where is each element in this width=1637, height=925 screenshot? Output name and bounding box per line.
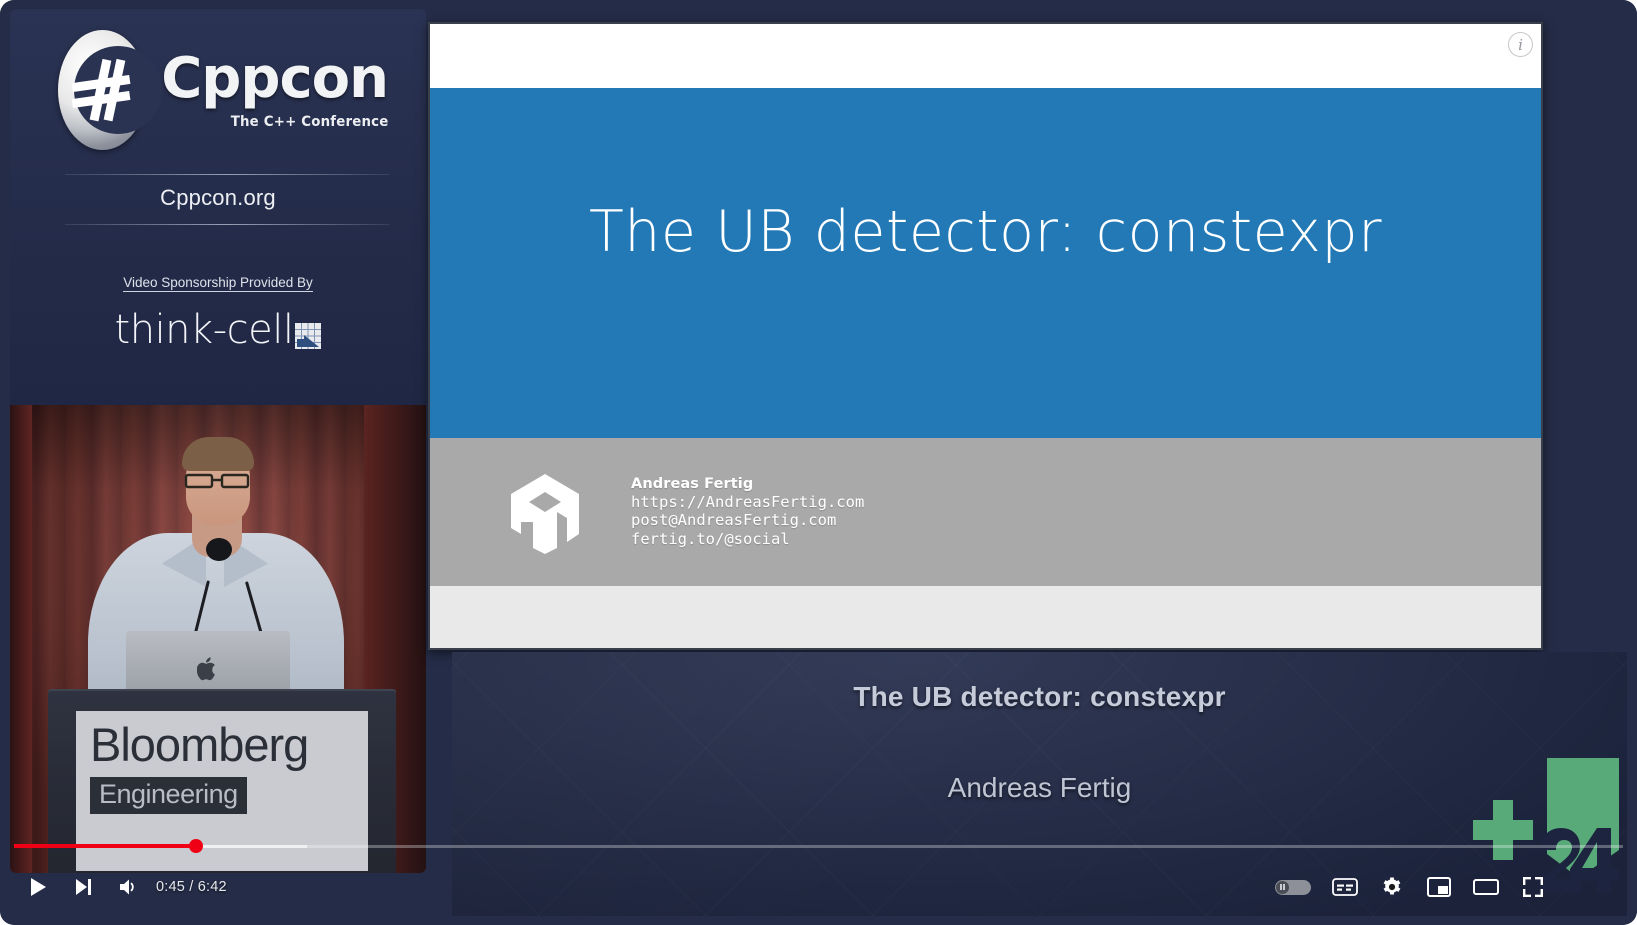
progress-scrubber[interactable]: [189, 839, 203, 853]
control-buttons-row: 0:45 / 6:42: [0, 863, 1637, 919]
slide-bottom-strip: [430, 586, 1541, 648]
miniplayer-icon: [1427, 877, 1451, 897]
stage-speaker-name: Andreas Fertig: [452, 772, 1627, 804]
autoplay-track[interactable]: [1275, 880, 1311, 895]
autoplay-knob: [1276, 881, 1289, 894]
theater-mode-button[interactable]: [1463, 863, 1509, 911]
stage-talk-title: The UB detector: constexpr: [452, 681, 1627, 713]
podium-subbrand: Engineering: [90, 777, 247, 814]
slide-website: https://AndreasFertig.com: [631, 493, 864, 511]
laptop: [126, 631, 290, 697]
progress-bar[interactable]: [14, 843, 1623, 849]
video-player[interactable]: Cppcon The C++ Conference Cppcon.org Vid…: [0, 0, 1637, 925]
glasses-icon: [184, 473, 252, 489]
cppcon-tagline: The C++ Conference: [230, 114, 388, 130]
next-video-button[interactable]: [60, 863, 106, 911]
play-button[interactable]: [14, 863, 62, 911]
speaker-contact-block: Andreas Fertig https://AndreasFertig.com…: [631, 476, 864, 548]
volume-icon: [118, 877, 140, 897]
progress-played: [14, 844, 196, 848]
think-cell-wordmark: think-cell: [115, 307, 294, 353]
presentation-slide: The UB detector: constexpr Andreas Ferti…: [428, 22, 1543, 650]
sponsor-card: Cppcon The C++ Conference Cppcon.org Vid…: [10, 9, 426, 405]
cppcon-wordmark: Cppcon The C++ Conference: [161, 51, 388, 130]
settings-button[interactable]: [1369, 863, 1415, 911]
speaker-camera-feed: Bloomberg Engineering: [10, 405, 426, 873]
slide-social: fertig.to/@social: [631, 530, 864, 548]
autoplay-toggle[interactable]: [1275, 863, 1311, 911]
cppcon-mark-icon: [58, 30, 147, 150]
sponsor-label: Video Sponsorship Provided By: [10, 275, 426, 290]
speaker-hair: [182, 437, 254, 471]
microphone-capsule: [206, 538, 232, 561]
subtitles-button[interactable]: [1322, 863, 1368, 911]
gear-icon: [1381, 876, 1403, 898]
left-column: Cppcon The C++ Conference Cppcon.org Vid…: [10, 9, 426, 873]
andreas-fertig-logo-icon: [503, 470, 587, 554]
podium-brand: Bloomberg: [76, 711, 368, 768]
divider-top: [65, 174, 389, 175]
speaker-figure: Bloomberg Engineering: [10, 405, 426, 873]
divider-bottom: [65, 224, 389, 225]
time-display: 0:45 / 6:42: [156, 863, 227, 911]
play-icon: [27, 876, 49, 898]
info-icon[interactable]: i: [1508, 32, 1533, 57]
theater-icon: [1473, 877, 1499, 897]
think-cell-mark-icon: [295, 323, 321, 349]
slide-author: Andreas Fertig: [631, 476, 864, 493]
slide-footer: Andreas Fertig https://AndreasFertig.com…: [430, 438, 1541, 586]
cppcon-logo: Cppcon The C++ Conference: [58, 25, 388, 155]
fullscreen-button[interactable]: [1510, 863, 1556, 911]
cppcon-brand-name: Cppcon: [161, 51, 388, 107]
cppcon-website: Cppcon.org: [10, 185, 426, 211]
player-controls[interactable]: 0:45 / 6:42: [0, 833, 1637, 925]
miniplayer-button[interactable]: [1416, 863, 1462, 911]
sponsor-label-text: Video Sponsorship Provided By: [123, 275, 313, 292]
fullscreen-icon: [1522, 876, 1544, 898]
apple-logo-icon: [197, 657, 219, 681]
volume-button[interactable]: [106, 863, 152, 911]
slide-email: post@AndreasFertig.com: [631, 511, 864, 529]
pause-icon: [1280, 884, 1286, 890]
think-cell-logo: think-cell: [10, 307, 426, 353]
closed-captions-icon: [1332, 878, 1358, 896]
next-icon: [73, 877, 93, 897]
slide-title: The UB detector: constexpr: [430, 199, 1541, 265]
hash-glyph-icon: [70, 57, 136, 123]
